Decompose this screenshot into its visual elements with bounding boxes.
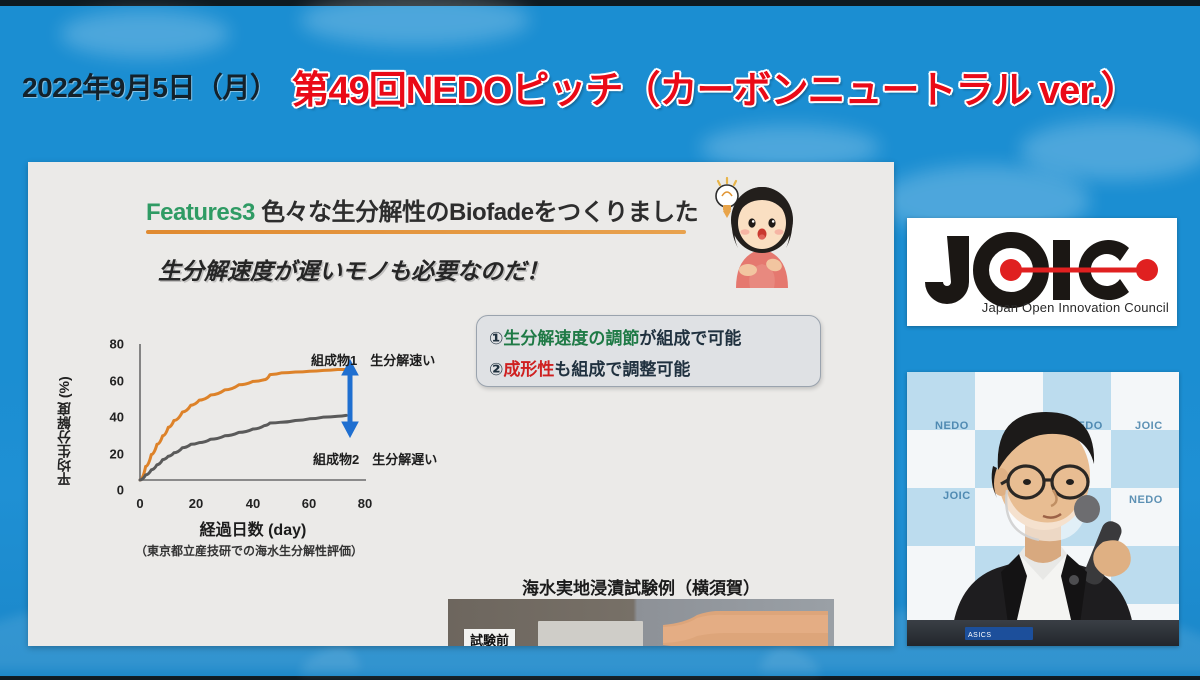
broadcast-header: 2022年9月5日（月） 第49回NEDOピッチ（カーボンニュートラル ver.… [0,55,1200,117]
speaker-desk [907,620,1179,646]
chart-caption: （東京都立産技研での海水生分解性評価） [84,542,414,559]
chart-y-axis-label: 平均生分解度 (%) [52,356,76,506]
slide-heading-feature: Features3 [146,199,255,226]
chart-series-1-label: 組成物1 生分解速い [311,350,435,369]
chart-x-ticks: 0 20 40 60 80 [128,496,378,514]
y-tick: 60 [110,373,124,388]
photo-row-label-before: 試験前 [464,629,515,646]
molded-sample-before [663,611,828,646]
x-tick: 0 [136,496,143,511]
callout-marker-1: ① [489,329,503,348]
slide-heading-rest: 色々な生分解性のBiofadeをつくりました [261,199,698,226]
slide-heading: Features3 色々な生分解性のBiofadeをつくりました [146,192,698,227]
speaker-figure [907,372,1179,646]
callout-highlight-2: 成形性 [503,360,554,379]
header-date: 2022年9月5日（月） [22,66,277,106]
bottom-letterbox-bar [0,676,1200,680]
biodegradation-chart: 平均生分解度 (%) 80 60 40 20 0 [58,334,428,564]
chart-y-ticks: 80 60 40 20 0 [92,344,124,490]
callout-highlight-1: 生分解速度の調節 [503,329,639,348]
cloud-shape [60,10,230,58]
photo-block-title: 海水実地浸漬試験例（横須賀） [448,574,834,599]
callout-line-2: ②成形性も組成で調整可能 [489,354,820,385]
chart-series-2-label: 組成物2 生分解遅い [313,449,437,468]
top-letterbox-bar [0,0,1200,6]
header-title: 第49回NEDOピッチ（カーボンニュートラル ver.） [291,59,1137,114]
x-tick: 60 [302,496,316,511]
speaker-nameplate-text: ASICS [968,632,992,639]
seawater-immersion-photo: 試験前 60日後 120日後 [448,599,834,646]
y-tick: 40 [110,410,124,425]
x-tick: 80 [358,496,372,511]
girl-illustration [700,170,824,288]
joic-logo: Japan Open Innovation Council [907,218,1177,326]
key-points-callout: ①生分解速度の調節が組成で可能 ②成形性も組成で調整可能 [476,315,821,387]
callout-rest-1: が組成で可能 [639,329,741,348]
joic-subtitle: Japan Open Innovation Council [907,300,1169,315]
callout-marker-2: ② [489,360,503,379]
cloud-shape [1020,120,1200,180]
slide-heading-line: Features3 色々な生分解性のBiofadeをつくりました [146,199,698,226]
chart-plot-area: 組成物1 生分解速い 組成物2 生分解遅い [128,344,368,490]
presentation-slide: Features3 色々な生分解性のBiofadeをつくりました 生分解速度が遅… [28,162,894,646]
slide-heading-underline [146,230,686,234]
difference-arrow-icon [342,360,358,437]
callout-line-1: ①生分解速度の調節が組成で可能 [489,323,820,354]
sheet-sample-before [538,621,643,646]
x-tick: 40 [246,496,260,511]
y-tick: 80 [110,337,124,352]
x-tick: 20 [189,496,203,511]
y-tick: 0 [117,483,124,498]
chart-x-axis-label: 経過日数 (day) [128,516,378,540]
callout-rest-2: も組成で調整可能 [554,360,690,379]
cloud-shape [300,0,530,46]
speaker-video-panel[interactable]: NEDO NEDO JOIC JOIC NEDO [907,372,1179,646]
slide-subheading: 生分解速度が遅いモノも必要なのだ！ [158,252,549,286]
y-tick: 20 [110,446,124,461]
